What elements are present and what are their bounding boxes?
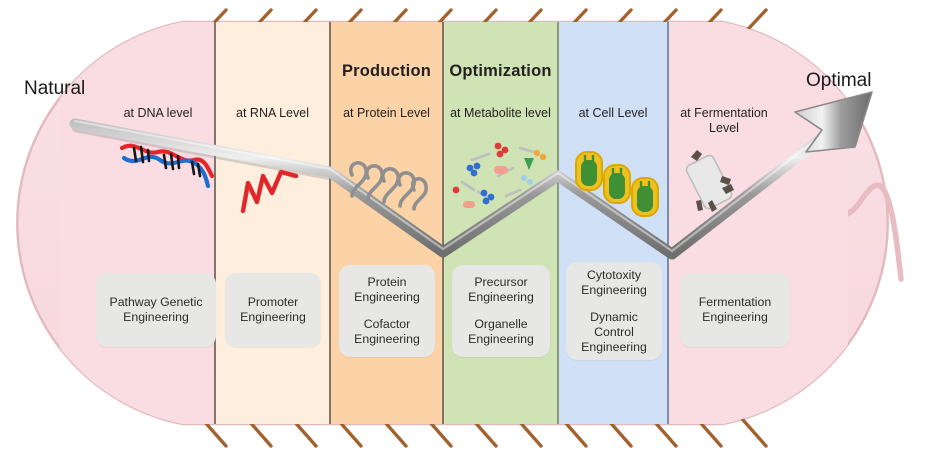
strategy-group: Dynamic Control Engineering (581, 310, 647, 355)
strategy-chip-fermentation[interactable]: Fermentation Engineering (680, 273, 790, 347)
strategy-group: Protein Engineering (354, 275, 420, 305)
strategy-line: Engineering (468, 290, 534, 305)
strategy-chip-rna[interactable]: Promoter Engineering (225, 273, 321, 347)
stage-sublabel-rna: at RNA Level (215, 106, 330, 121)
stage-columns (60, 22, 848, 424)
stage-header-production: Production (330, 62, 443, 81)
strategy-line: Engineering (468, 332, 534, 347)
strategy-line: Engineering (110, 310, 203, 325)
strategy-group: Pathway Genetic Engineering (110, 295, 203, 325)
stage-sublabel-fermentation-line2: Level (668, 121, 780, 136)
stage-header-optimization: Optimization (441, 62, 560, 81)
strategy-chip-metabolite[interactable]: Precursor Engineering Organelle Engineer… (452, 265, 550, 357)
strategy-line: Promoter (240, 295, 306, 310)
stage-sublabel-fermentation-line1: at Fermentation (668, 106, 780, 121)
strategy-line: Cytotoxity (581, 268, 647, 283)
strategy-line: Engineering (699, 310, 771, 325)
column-rna (215, 22, 330, 424)
stage-sublabel-dna: at DNA level (100, 106, 216, 121)
strategy-group: Fermentation Engineering (699, 295, 771, 325)
strategy-line: Engineering (354, 332, 420, 347)
column-cell (558, 22, 668, 424)
stage-sublabel-fermentation: at Fermentation Level (668, 106, 780, 136)
strategy-chip-dna[interactable]: Pathway Genetic Engineering (96, 273, 216, 347)
strategy-line: Engineering (240, 310, 306, 325)
column-protein (330, 22, 443, 424)
stage-sublabel-metabolite: at Metabolite level (441, 106, 560, 121)
strategy-line: Engineering (581, 340, 647, 355)
strategy-group: Organelle Engineering (468, 317, 534, 347)
strategy-chip-protein[interactable]: Protein Engineering Cofactor Engineering (339, 265, 435, 357)
stage-sublabel-cell: at Cell Level (558, 106, 668, 121)
strategy-group: Cofactor Engineering (354, 317, 420, 347)
strategy-line: Protein (354, 275, 420, 290)
strategy-group: Cytotoxity Engineering (581, 268, 647, 298)
strategy-line: Fermentation (699, 295, 771, 310)
strategy-line: Control (581, 325, 647, 340)
column-metabolite (443, 22, 558, 424)
label-optimal: Optimal (806, 70, 871, 92)
label-natural: Natural (24, 78, 85, 100)
strategy-line: Pathway Genetic (110, 295, 203, 310)
stage-sublabel-protein: at Protein Level (330, 106, 443, 121)
strategy-group: Precursor Engineering (468, 275, 534, 305)
strategy-line: Cofactor (354, 317, 420, 332)
strategy-group: Promoter Engineering (240, 295, 306, 325)
strategy-line: Engineering (581, 283, 647, 298)
strategy-line: Engineering (354, 290, 420, 305)
strategy-line: Precursor (468, 275, 534, 290)
strategy-line: Dynamic (581, 310, 647, 325)
strategy-line: Organelle (468, 317, 534, 332)
strategy-chip-cell[interactable]: Cytotoxity Engineering Dynamic Control E… (566, 262, 662, 360)
metabolic-engineering-diagram: Natural Optimal Production Optimization … (0, 0, 940, 453)
